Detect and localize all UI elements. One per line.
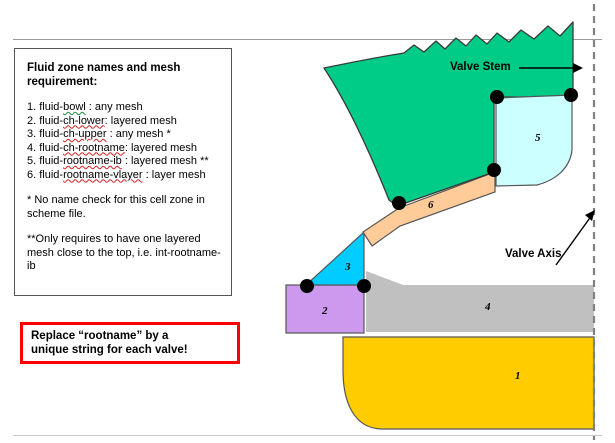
vertex-dot <box>487 163 501 177</box>
vertex-dot <box>490 90 504 104</box>
zone-item-requirement: layered mesh <box>128 142 197 154</box>
rootname-warning-text: Replace “rootname” by a unique string fo… <box>31 329 188 357</box>
screenshot-canvas: 1 2 3 4 5 6 Valve Stem Valve Axis Fluid … <box>0 0 615 443</box>
zone-item-index: 3. <box>27 128 36 140</box>
zone-list-item: 4. fluid-ch-rootname: layered mesh <box>27 142 221 156</box>
rootname-warning-box: Replace “rootname” by a unique string fo… <box>20 322 240 364</box>
zone-item-index: 2. <box>27 115 36 127</box>
zone-list-item: 6. fluid-rootname-vlayer : layer mesh <box>27 169 221 183</box>
zone-item-name: rootname-ib <box>63 155 122 167</box>
fluid-zone-info-panel: Fluid zone names and mesh requirement: 1… <box>14 48 232 296</box>
zone-item-requirement: layered mesh <box>108 115 177 127</box>
valve-axis-label: Valve Axis <box>505 248 561 260</box>
zone-item-prefix: fluid- <box>39 115 63 127</box>
zone-2-ch-lower-shape <box>286 285 364 333</box>
zone-item-index: 1. <box>27 101 36 113</box>
footnote-double-asterisk: **Only requires to have one layered mesh… <box>27 233 221 274</box>
zone-3-ch-upper-shape <box>306 232 364 285</box>
zone-item-requirement: any mesh * <box>113 128 171 140</box>
zone-item-name: ch-rootname <box>63 142 125 154</box>
zone-item-name: rootname-vlayer <box>63 169 142 181</box>
zone-item-name: ch-upper <box>63 128 106 140</box>
zone-item-prefix: fluid- <box>39 128 63 140</box>
zone-5-rootname-ib-shape <box>496 95 572 186</box>
zone-4-slope-wedge <box>366 271 403 285</box>
zone-list-item: 5. fluid-rootname-ib : layered mesh ** <box>27 155 221 169</box>
vertex-dot <box>392 196 406 210</box>
vertex-dot <box>300 279 314 293</box>
zone-item-index: 4. <box>27 142 36 154</box>
zone-item-requirement: layered mesh ** <box>128 155 209 167</box>
zone-item-requirement: layer mesh <box>149 169 206 181</box>
zone-item-index: 6. <box>27 169 36 181</box>
zone-item-prefix: fluid- <box>39 155 63 167</box>
zone-item-prefix: fluid- <box>39 142 63 154</box>
zone-list-item: 2. fluid-ch-lower: layered mesh <box>27 115 221 129</box>
zone-1-bowl-shape <box>343 337 594 429</box>
valve-axis-arrowhead <box>585 210 595 221</box>
zone-list: 1. fluid-bowl : any mesh 2. fluid-ch-low… <box>27 101 221 182</box>
zone-4-ch-rootname-shape <box>366 285 594 332</box>
zone-list-item: 3. fluid-ch-upper : any mesh * <box>27 128 221 142</box>
info-panel-title: Fluid zone names and mesh requirement: <box>27 61 221 89</box>
vertex-dot <box>564 88 578 102</box>
zone-list-item: 1. fluid-bowl : any mesh <box>27 101 221 115</box>
zone-item-name: bowl <box>63 101 86 113</box>
zone-item-prefix: fluid- <box>39 101 63 113</box>
vertex-dot <box>357 279 371 293</box>
zone-item-requirement: any mesh <box>92 101 143 113</box>
zone-item-prefix: fluid- <box>39 169 63 181</box>
zone-item-name: ch-lower <box>63 115 105 127</box>
valve-stem-arrowhead <box>573 63 583 73</box>
valve-stem-label: Valve Stem <box>450 61 511 73</box>
footnote-single-asterisk: * No name check for this cell zone in sc… <box>27 194 221 221</box>
zone-item-index: 5. <box>27 155 36 167</box>
